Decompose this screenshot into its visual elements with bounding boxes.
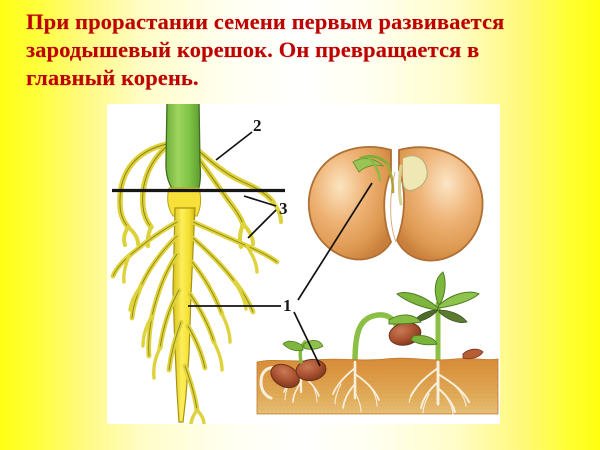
seed-coat-remnant <box>463 349 483 359</box>
title-line-1: При прорастании семени первым развиваетс… <box>26 8 586 36</box>
callout-label-1: 1 <box>283 297 292 314</box>
page-title: При прорастании семени первым развиваетс… <box>26 8 586 92</box>
green-stem <box>166 104 201 198</box>
germination-sequence <box>255 264 500 416</box>
title-line-2: зародышевый корешок. Он превращается в <box>26 36 586 64</box>
title-line-3: главный корень. <box>26 64 586 92</box>
germination-stage-2 <box>283 340 323 362</box>
illustration-panel <box>107 104 500 424</box>
slide-canvas: При прорастании семени первым развиваетс… <box>0 0 600 450</box>
callout-label-3: 3 <box>279 200 288 217</box>
callout-label-2: 2 <box>253 117 262 134</box>
bean-cotyledons <box>303 138 493 273</box>
lower-lateral-roots <box>113 222 277 424</box>
germination-stage-3 <box>355 315 437 362</box>
